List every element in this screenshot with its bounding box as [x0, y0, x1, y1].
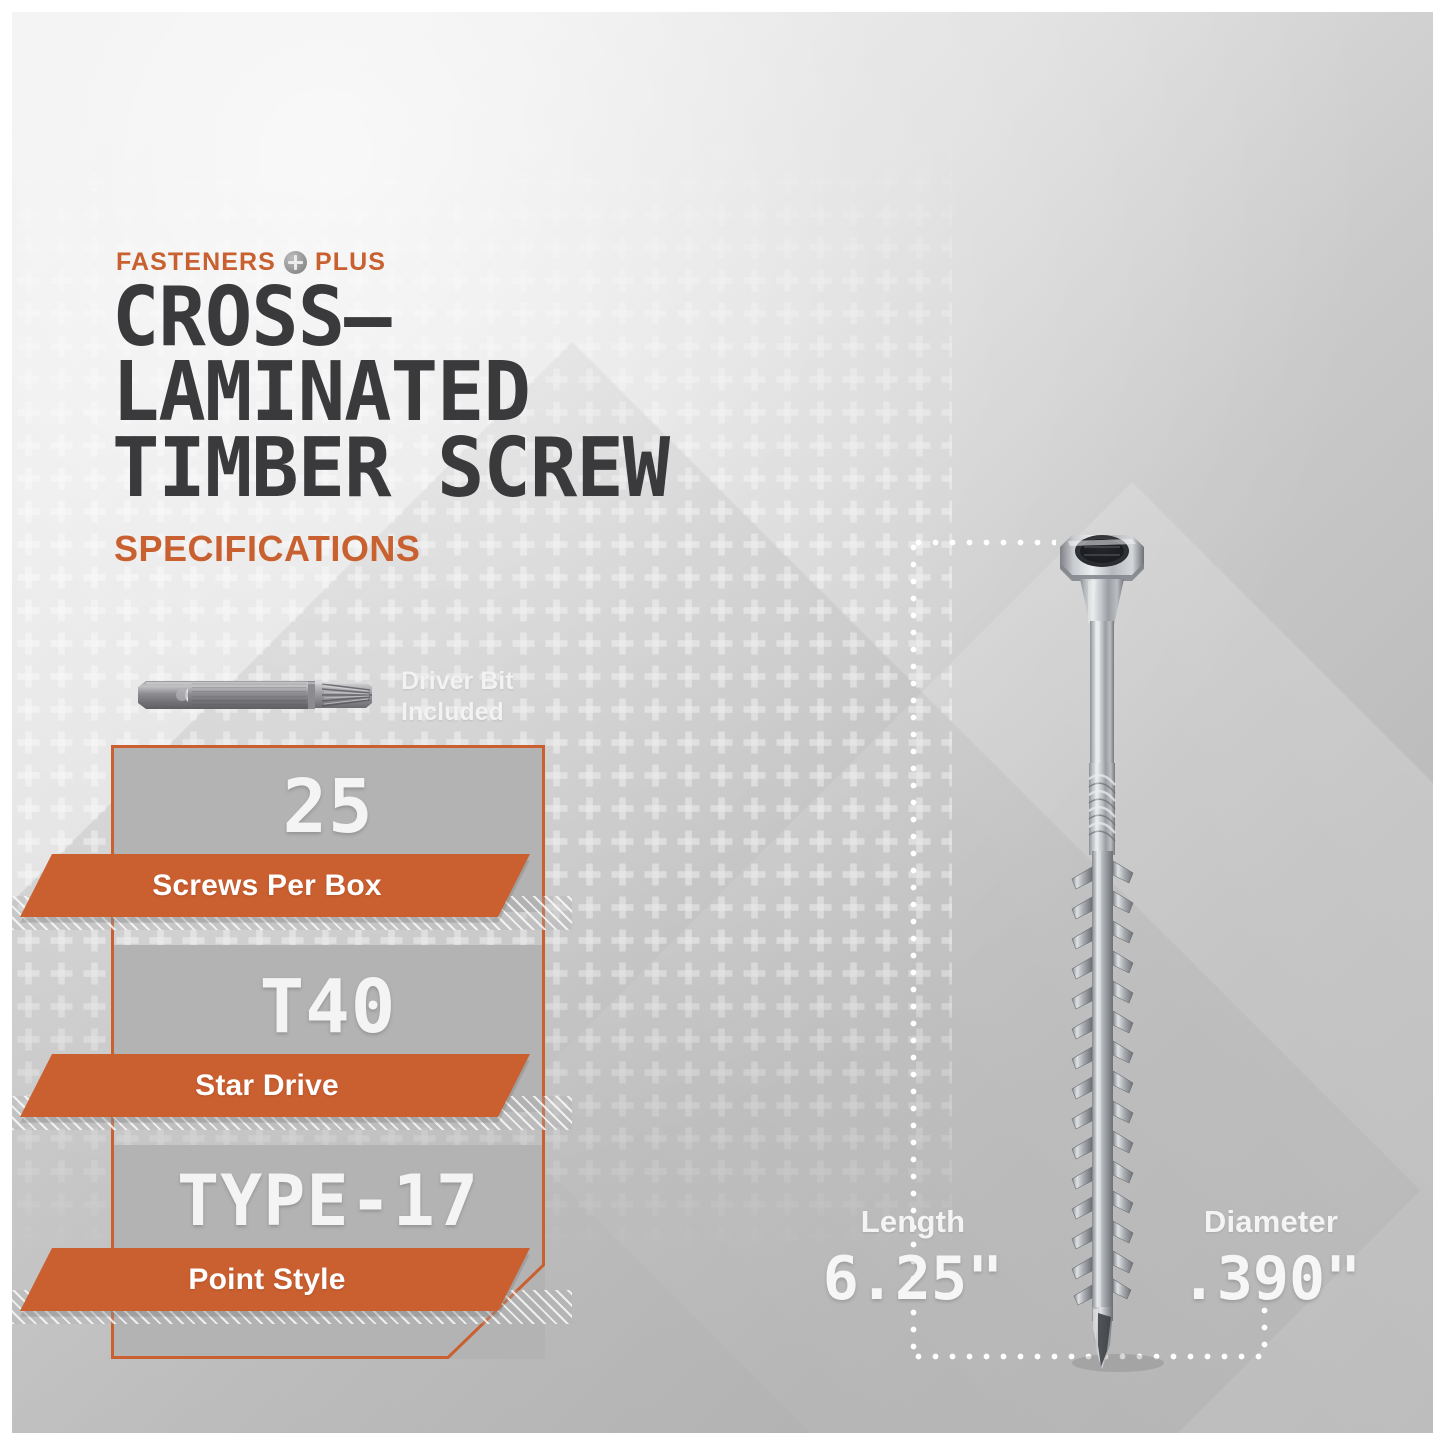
- title-line-1: CROSS–: [112, 280, 899, 355]
- dimension-length-value: 6.25": [802, 1244, 1024, 1314]
- page-title: CROSS– LAMINATED TIMBER SCREW: [112, 280, 899, 506]
- spec-value-1: 25: [111, 764, 545, 850]
- dimension-diameter-caption: Diameter: [1152, 1204, 1390, 1240]
- spec-label-2: Star Drive: [195, 1069, 339, 1103]
- spec-ribbon-1: Screws Per Box: [20, 854, 530, 917]
- timber-screw-icon: [1032, 517, 1172, 1377]
- art-board: FASTENERS PLUS CROSS– LAMINATED TIMBER S…: [12, 12, 1433, 1433]
- driver-bit-label-line-1: Driver Bit: [401, 666, 514, 697]
- dimension-length-caption: Length: [802, 1204, 1024, 1240]
- spec-label-3: Point Style: [188, 1263, 345, 1297]
- spec-label-1: Screws Per Box: [152, 869, 382, 903]
- spec-value-3: TYPE-17: [111, 1160, 545, 1242]
- infographic-canvas: FASTENERS PLUS CROSS– LAMINATED TIMBER S…: [0, 0, 1445, 1445]
- title-line-3: TIMBER SCREW: [112, 431, 899, 506]
- dimension-length: Length 6.25": [802, 1204, 1024, 1314]
- dimension-diameter: Diameter .390": [1152, 1204, 1390, 1314]
- page-subtitle: SPECIFICATIONS: [114, 528, 420, 570]
- spec-ribbon-3: Point Style: [20, 1248, 530, 1311]
- spec-value-2: T40: [111, 964, 545, 1050]
- dimension-diameter-value: .390": [1152, 1244, 1390, 1314]
- spec-ribbon-2: Star Drive: [20, 1054, 530, 1117]
- driver-bit-label: Driver Bit Included: [401, 666, 514, 727]
- driver-bit-label-line-2: Included: [401, 697, 514, 728]
- torx-driver-bit-icon: [136, 674, 376, 716]
- title-line-2: LAMINATED: [112, 355, 899, 430]
